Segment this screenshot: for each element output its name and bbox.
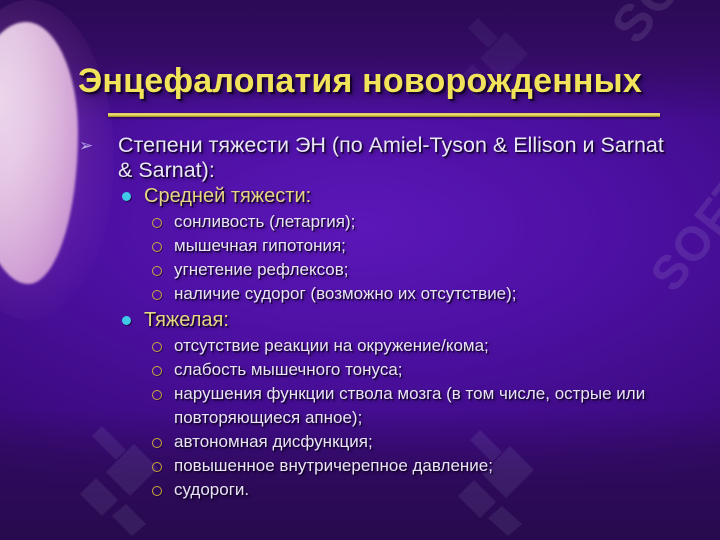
list-item-label: автономная дисфункция; — [174, 430, 720, 454]
hollow-circle-icon — [152, 342, 162, 352]
list-item: наличие судорог (возможно их отсутствие)… — [144, 282, 720, 306]
outline-level-2: Средней тяжести: сонливость (летаргия); … — [118, 183, 720, 502]
list-item-label: слабость мышечного тонуса; — [174, 358, 720, 382]
list-item: повышенное внутричерепное давление; — [144, 454, 720, 478]
title-underline-rule — [108, 113, 660, 117]
list-item: судороги. — [144, 478, 720, 502]
slide-body: ➢ Степени тяжести ЭН (по Amiel-Tyson & E… — [0, 133, 720, 504]
outline-level-3: отсутствие реакции на окружение/кома; сл… — [144, 334, 720, 502]
list-item: мышечная гипотония; — [144, 234, 720, 258]
list-item: Тяжелая: отсутствие реакции на окружение… — [118, 307, 720, 502]
list-item-label: нарушения функции ствола мозга (в том чи… — [174, 382, 720, 430]
hollow-circle-icon — [152, 390, 162, 400]
list-item-label: судороги. — [174, 478, 720, 502]
chevron-right-icon: ➢ — [79, 135, 97, 157]
list-item-label: повышенное внутричерепное давление; — [174, 454, 720, 478]
list-item-label: мышечная гипотония; — [174, 234, 720, 258]
hollow-circle-icon — [152, 486, 162, 496]
list-item-label: Средней тяжести: — [144, 183, 720, 210]
filled-circle-icon — [122, 192, 131, 201]
outline-level-1: ➢ Степени тяжести ЭН (по Amiel-Tyson & E… — [0, 133, 720, 502]
list-item: ➢ Степени тяжести ЭН (по Amiel-Tyson & E… — [0, 133, 720, 502]
hollow-circle-icon — [152, 438, 162, 448]
hollow-circle-icon — [152, 242, 162, 252]
list-item-label: наличие судорог (возможно их отсутствие)… — [174, 282, 720, 306]
outline-level-3: сонливость (летаргия); мышечная гипотони… — [144, 210, 720, 306]
filled-circle-icon — [122, 316, 131, 325]
hollow-circle-icon — [152, 266, 162, 276]
list-item: Средней тяжести: сонливость (летаргия); … — [118, 183, 720, 306]
hollow-circle-icon — [152, 366, 162, 376]
hollow-circle-icon — [152, 290, 162, 300]
list-item-label: отсутствие реакции на окружение/кома; — [174, 334, 720, 358]
list-item: отсутствие реакции на окружение/кома; — [144, 334, 720, 358]
list-item: угнетение рефлексов; — [144, 258, 720, 282]
list-item-label: сонливость (летаргия); — [174, 210, 720, 234]
slide-title-container: Энцефалопатия новорожденных — [0, 64, 720, 100]
watermark-soft-top-right: SOFT — [600, 0, 720, 55]
slide-title: Энцефалопатия новорожденных — [78, 64, 642, 100]
list-item-label: угнетение рефлексов; — [174, 258, 720, 282]
hollow-circle-icon — [152, 218, 162, 228]
list-item: нарушения функции ствола мозга (в том чи… — [144, 382, 720, 430]
list-item-label: Степени тяжести ЭН (по Amiel-Tyson & Ell… — [118, 133, 720, 183]
list-item: автономная дисфункция; — [144, 430, 720, 454]
list-item-label: Тяжелая: — [144, 307, 720, 334]
list-item: сонливость (летаргия); — [144, 210, 720, 234]
presentation-slide: SOFT SOFT Энцефалопатия новорожденных ➢ … — [0, 0, 720, 540]
hollow-circle-icon — [152, 462, 162, 472]
list-item: слабость мышечного тонуса; — [144, 358, 720, 382]
background-top-shading — [0, 0, 720, 120]
